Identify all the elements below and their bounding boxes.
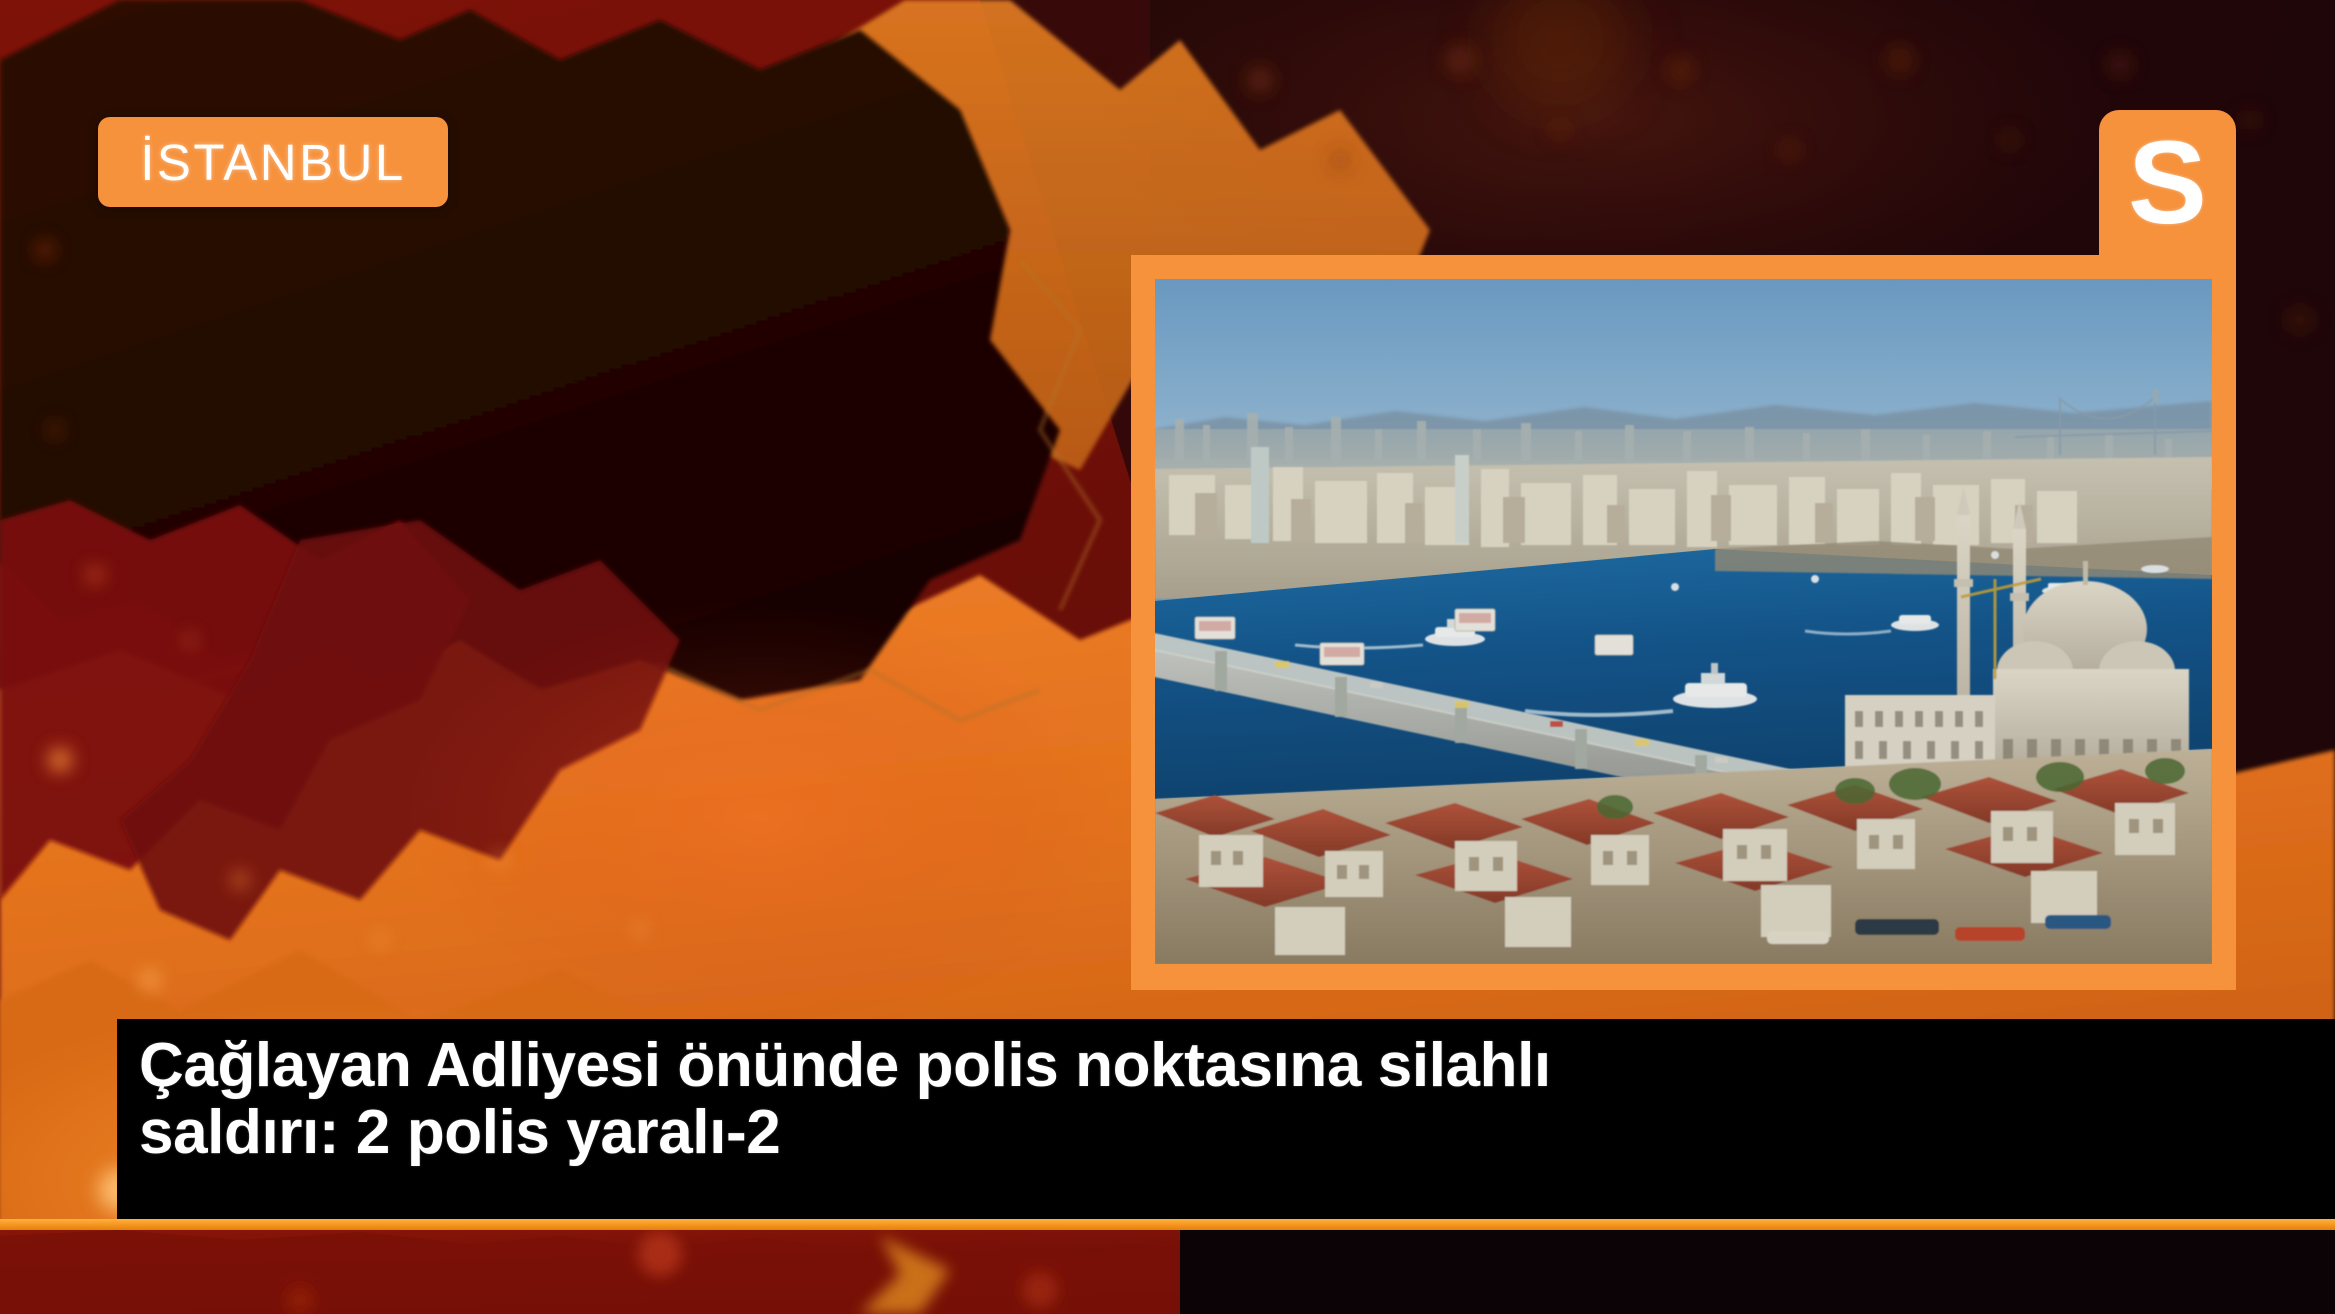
news-photo [1155,279,2212,964]
news-photo-svg [1155,279,2212,964]
bottom-strip [0,1230,2335,1314]
headline-panel: Çağlayan Adliyesi önünde polis noktasına… [117,1019,2335,1219]
brand-logo-s-icon: S [2099,110,2236,262]
accent-divider-bar [0,1219,2335,1230]
location-tag-label: İSTANBUL [140,137,406,188]
location-tag: İSTANBUL [98,117,448,207]
bottom-strip-svg [0,1230,2335,1314]
photo-frame [1131,255,2236,990]
headline-title: Çağlayan Adliyesi önünde polis noktasına… [139,1033,1679,1167]
brand-logo-letter: S [2128,124,2207,242]
news-card-stage: İSTANBUL S [0,0,2335,1314]
